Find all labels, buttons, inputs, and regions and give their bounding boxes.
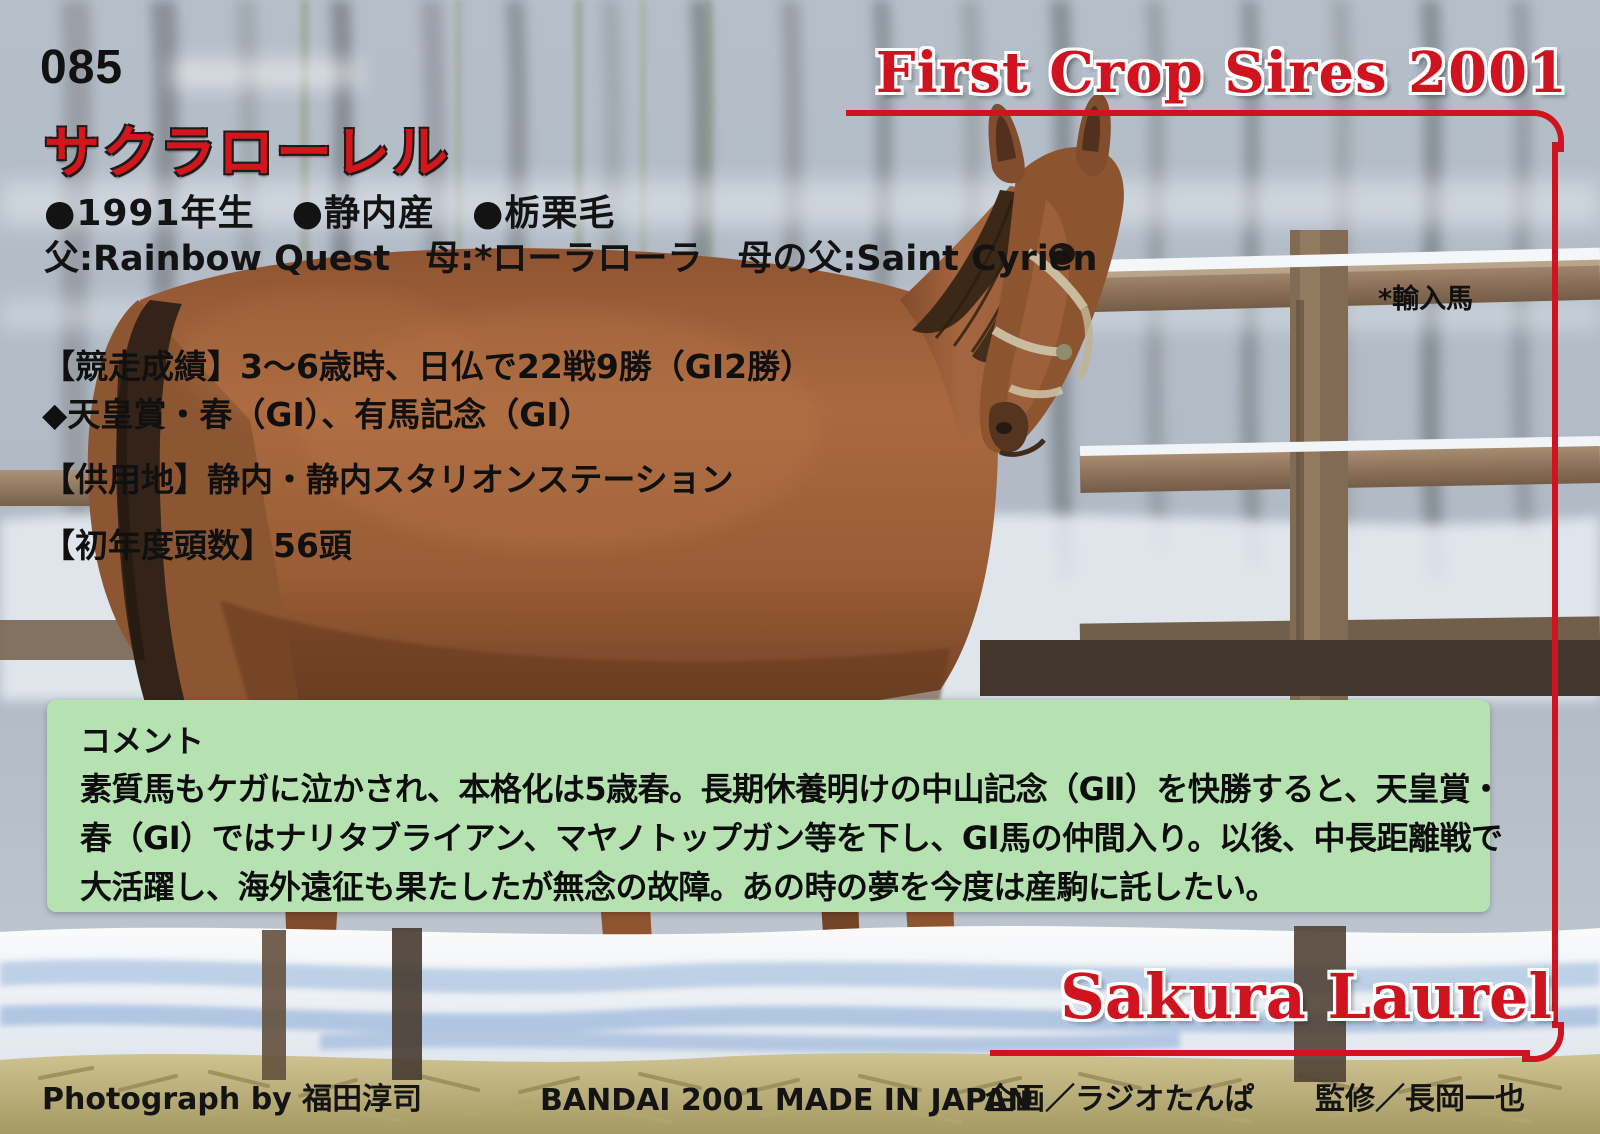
stat-stud-location: 【供用地】静内・静内スタリオンステーション — [42, 453, 734, 501]
header-rule-right — [1552, 142, 1558, 1028]
comment-label: コメント — [80, 716, 204, 761]
card-number: 085 — [40, 40, 123, 95]
comment-line: 春（GⅠ）ではナリタブライアン、マヤノトップガン等を下し、GⅠ馬の仲間入り。以後… — [80, 813, 1502, 859]
profile-line-pedigree: 父:Rainbow Quest 母:*ローラローラ 母の父:Saint Cyri… — [44, 230, 1097, 281]
credit-supervisor: 監修／長岡一也 — [1315, 1074, 1525, 1118]
trading-card: 085 First Crop Sires 2001 サクラローレル ●1991年… — [0, 0, 1600, 1134]
horse-name-japanese: サクラローレル — [44, 108, 450, 189]
horse-name-english: Sakura Laurel — [1060, 960, 1552, 1033]
imported-horse-mark: *輸入馬 — [1378, 277, 1473, 316]
credit-planning: 企画／ラジオたんぱ — [985, 1074, 1254, 1118]
credit-photographer: Photograph by 福田淳司 — [42, 1074, 422, 1118]
series-title: First Crop Sires 2001 — [876, 40, 1568, 106]
credit-publisher: BANDAI 2001 MADE IN JAPAN — [540, 1083, 1032, 1118]
comment-line: 大活躍し、海外遠征も果たしたが無念の故障。あの時の夢を今度は産駒に託したい。 — [80, 862, 1277, 908]
stat-major-wins: ◆天皇賞・春（GⅠ）、有馬記念（GⅠ） — [42, 388, 592, 436]
header-rule-top — [846, 110, 1536, 116]
comment-panel: コメント 素質馬もケガに泣かされ、本格化は5歳春。長期休養明けの中山記念（GⅡ）… — [47, 700, 1490, 912]
stat-race-record: 【競走成績】3〜6歳時、日仏で22戦9勝（GⅠ2勝） — [42, 340, 813, 388]
header-rule-bottom — [990, 1050, 1530, 1056]
comment-line: 素質馬もケガに泣かされ、本格化は5歳春。長期休養明けの中山記念（GⅡ）を快勝する… — [80, 764, 1502, 810]
profile-line-birth-origin-color: ●1991年生 ●静内産 ●栃栗毛 — [44, 184, 615, 236]
stat-first-crop-count: 【初年度頭数】56頭 — [42, 519, 352, 567]
